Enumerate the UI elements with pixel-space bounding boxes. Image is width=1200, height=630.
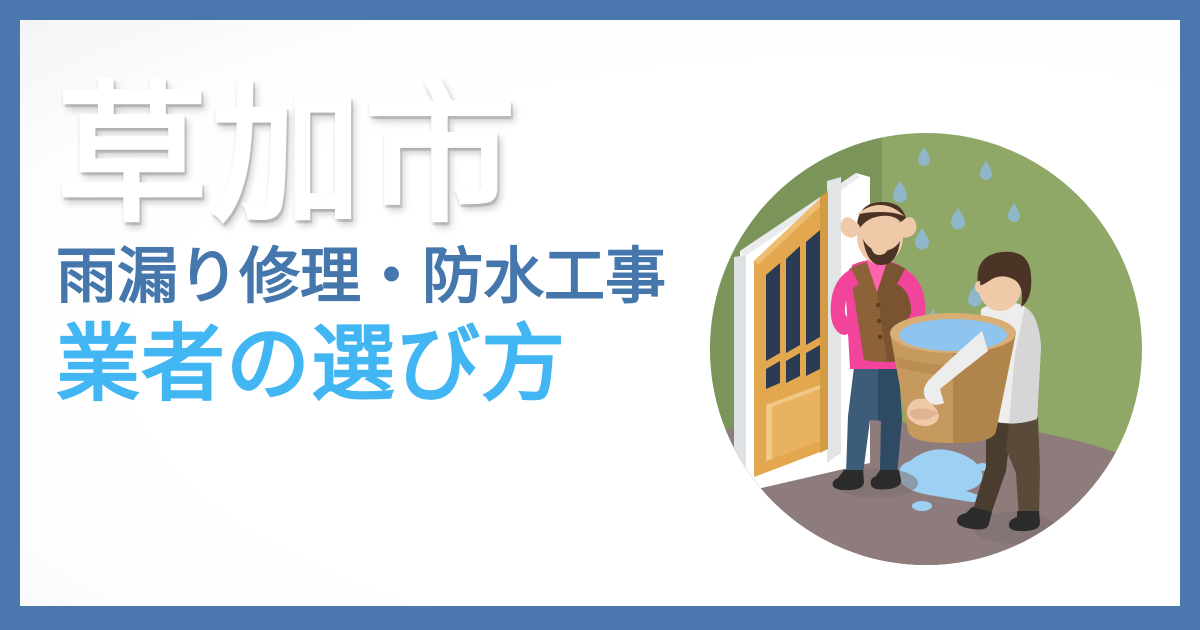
- service-subheading: 雨漏り修理・防水工事: [56, 244, 756, 308]
- door-pane-1: [766, 263, 780, 361]
- bucket-water: [899, 319, 1007, 351]
- vest-button: [876, 303, 881, 308]
- roof-leak-illustration: [710, 133, 1142, 565]
- vest-button: [878, 335, 883, 340]
- howto-heading: 業者の選び方: [56, 322, 756, 408]
- door-casing-left-edge: [734, 255, 746, 495]
- vest-button: [877, 319, 882, 324]
- city-name-heading: 草加市: [56, 80, 756, 232]
- banner-canvas: 草加市 雨漏り修理・防水工事 業者の選び方: [20, 20, 1180, 606]
- puddle-droplet-small: [912, 501, 932, 511]
- door-leaf-edge-shade: [820, 191, 828, 453]
- headline-block: 草加市 雨漏り修理・防水工事 業者の選び方: [56, 80, 756, 408]
- illustration-scene: [710, 133, 1142, 565]
- door-pane-3: [806, 230, 820, 345]
- roof-leak-illustration-svg: [710, 133, 1142, 565]
- banner-root: 草加市 雨漏り修理・防水工事 業者の選び方: [0, 0, 1200, 630]
- door-lower-panel-highlight: [766, 403, 772, 461]
- door-pane-2: [786, 246, 800, 353]
